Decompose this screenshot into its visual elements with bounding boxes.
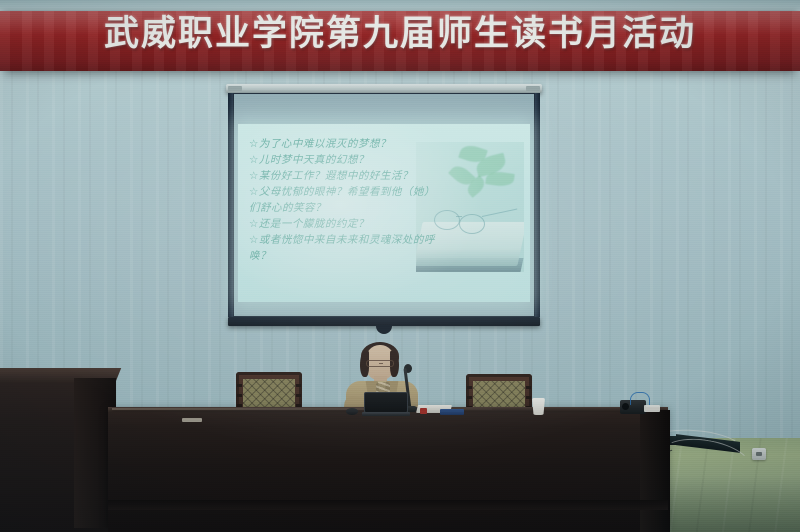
screen-roller-casing (226, 84, 542, 93)
projector-lens (622, 403, 629, 410)
projection-screen: ☆为了心中难以泯灭的梦想？ ☆儿时梦中天真的幻想？ ☆某份好工作？遐想中的好生活… (224, 84, 544, 327)
red-object-on-table (420, 408, 427, 414)
wall-outlet-slot (756, 452, 762, 456)
screen-rail-right (535, 93, 540, 317)
laptop (362, 392, 410, 416)
white-device-on-table (644, 405, 660, 412)
screen-casing-end-right (526, 86, 540, 91)
laptop-lid (364, 392, 408, 413)
table-small-paper (182, 418, 202, 422)
banner-title-text: 武威职业学院第九届师生读书月活动 (0, 0, 800, 60)
table-base-trim (108, 500, 668, 510)
screen-casing-end-left (228, 86, 242, 91)
lecture-hall-photo: 武威职业学院第九届师生读书月活动 ☆为了心中难以 (0, 0, 800, 532)
table-right-end (640, 410, 670, 532)
slide-line-6: ☆或者恍惚中来自未来和灵魂深处的呼唤？ (249, 232, 439, 264)
projector-cable (630, 392, 650, 405)
presentation-table (108, 412, 668, 532)
blue-folder (440, 409, 464, 415)
slide-line-1: ☆为了心中难以泯灭的梦想？ (249, 136, 439, 152)
slide-line-2: ☆儿时梦中天真的幻想？ (249, 152, 439, 168)
slide-text-block: ☆为了心中难以泯灭的梦想？ ☆儿时梦中天真的幻想？ ☆某份好工作？遐想中的好生活… (249, 136, 439, 264)
projected-slide: ☆为了心中难以泯灭的梦想？ ☆儿时梦中天真的幻想？ ☆某份好工作？遐想中的好生活… (238, 124, 530, 302)
slide-line-5: ☆还是一个朦胧的约定？ (249, 216, 439, 232)
presenter-glasses (366, 360, 394, 367)
paper-cup (532, 398, 545, 415)
laptop-base (362, 412, 410, 416)
computer-mouse (346, 408, 358, 415)
slide-line-4: ☆父母忧郁的眼神？希望看到他（她）们舒心的笑容？ (249, 184, 439, 216)
slide-line-3: ☆某份好工作？遐想中的好生活？ (249, 168, 439, 184)
